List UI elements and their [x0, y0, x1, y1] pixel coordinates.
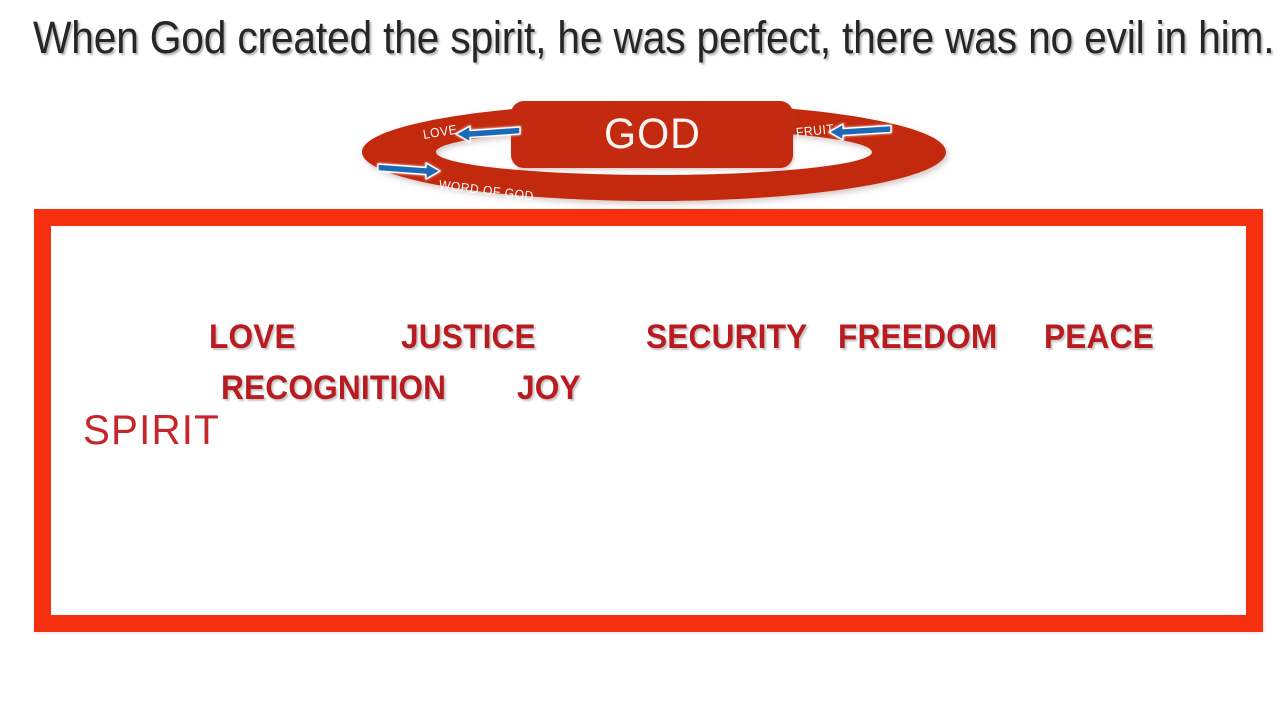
attribute-peace: PEACE	[1044, 320, 1154, 354]
spirit-heading: SPIRIT	[83, 409, 220, 451]
cycle-diagram: GOD LOVE FRUIT WORD OF GOD	[352, 92, 956, 210]
page-title: When God created the spirit, he was perf…	[33, 14, 1155, 63]
attribute-love: LOVE	[209, 320, 296, 354]
fruit-arrow-icon	[829, 124, 891, 140]
spirit-panel-inner: LOVE JUSTICE SECURITY FREEDOM PEACE RECO…	[51, 226, 1246, 615]
attribute-recognition: RECOGNITION	[221, 371, 446, 405]
cycle-arrows	[352, 92, 956, 210]
attribute-freedom: FREEDOM	[838, 320, 997, 354]
word-of-god-arrow-icon	[378, 163, 440, 179]
love-arrow-icon	[456, 126, 520, 142]
attribute-justice: JUSTICE	[401, 320, 536, 354]
attribute-security: SECURITY	[646, 320, 807, 354]
attribute-joy: JOY	[517, 371, 581, 405]
spirit-panel: LOVE JUSTICE SECURITY FREEDOM PEACE RECO…	[34, 209, 1263, 632]
